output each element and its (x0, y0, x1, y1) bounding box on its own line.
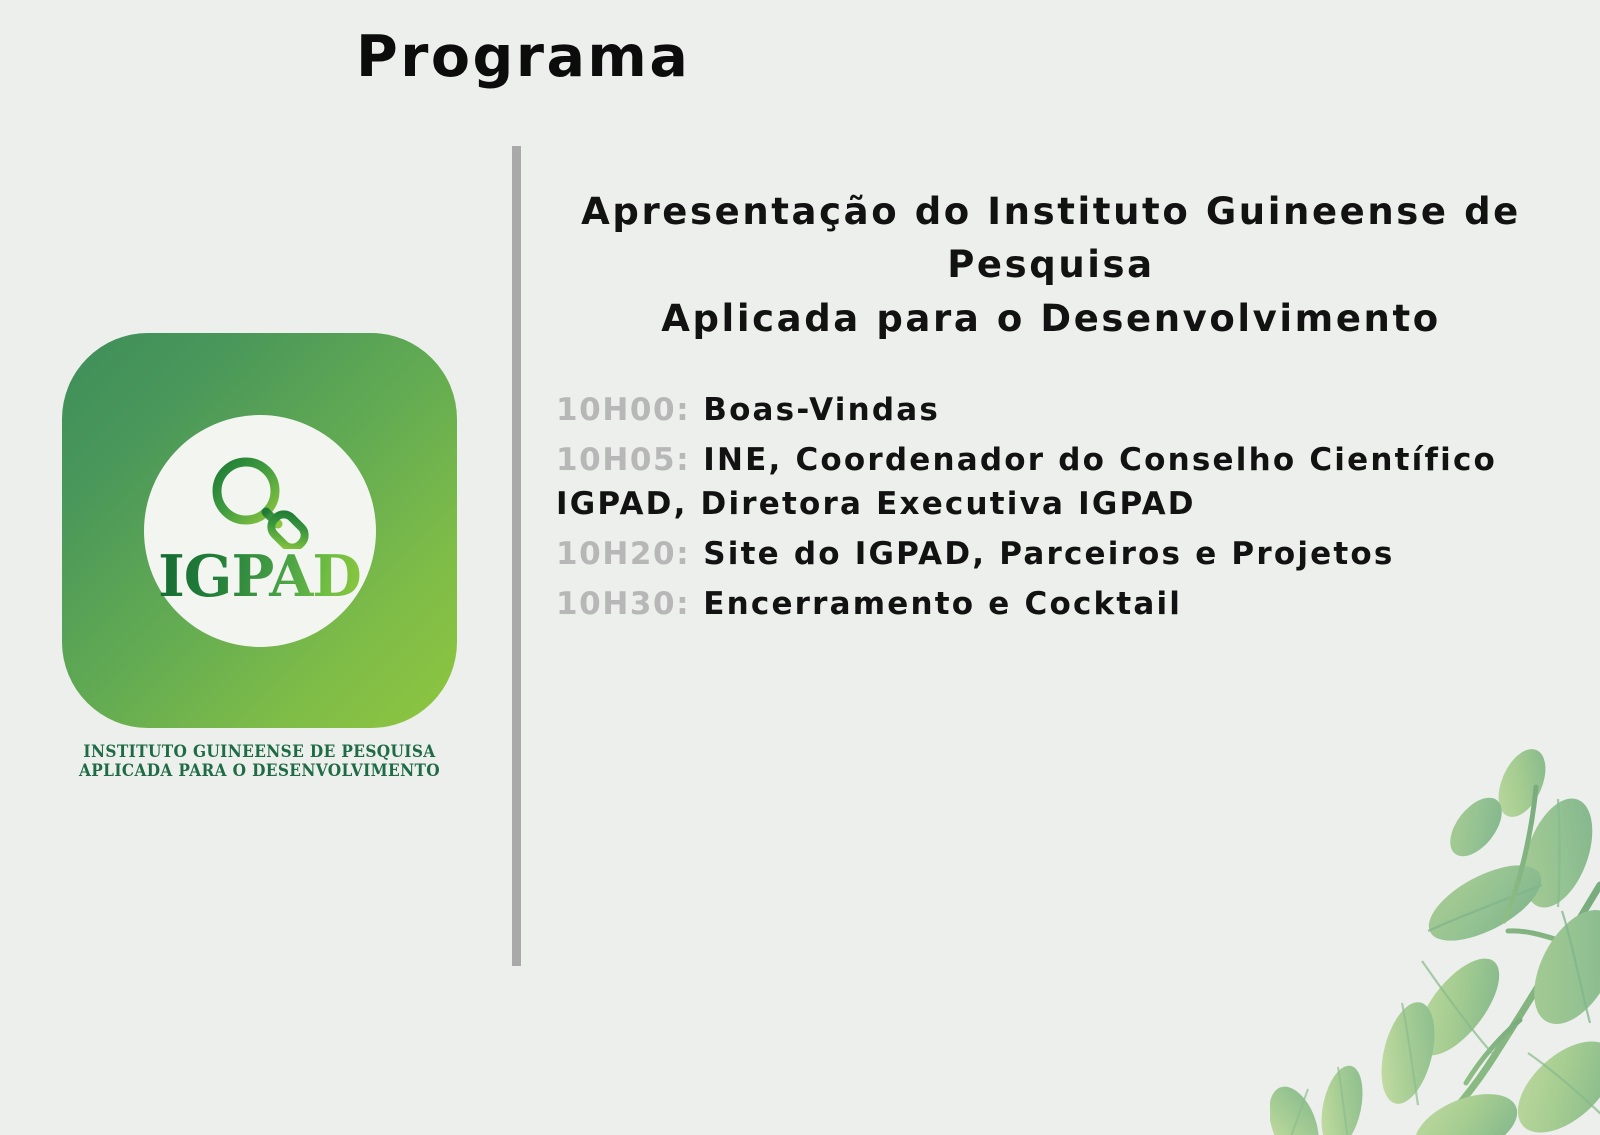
headline-line-2: Pesquisa (556, 239, 1546, 292)
schedule-item-time: 10H30: (556, 586, 690, 622)
leaf (1489, 742, 1555, 824)
leaf-stem-main (1430, 885, 1600, 1135)
igpad-logo-block: IGPAD INSTITUTO GUINEENSE DE PESQUISA AP… (62, 333, 462, 781)
logo-caption-line-1: INSTITUTO GUINEENSE DE PESQUISA (76, 742, 443, 761)
schedule-item-time: 10H20: (556, 536, 690, 572)
schedule-item-time: 10H05: (556, 442, 690, 478)
leaf-vein (1558, 799, 1560, 907)
schedule-item: 10H20: Site do IGPAD, Parceiros e Projet… (556, 532, 1546, 577)
schedule-item-desc: INE, Coordenador do Conselho Científico … (556, 442, 1497, 523)
logo-wordmark: IGPAD (158, 548, 361, 605)
content-column: Apresentação do Instituto Guineense de P… (556, 186, 1546, 632)
leaf-stem-branch (1508, 931, 1558, 940)
leaf (1405, 1081, 1526, 1135)
leaf-vein (1402, 1003, 1418, 1105)
leaf-vein (1422, 961, 1492, 1053)
schedule-item-desc: Site do IGPAD, Parceiros e Projetos (703, 536, 1394, 572)
magnifying-glass-icon (204, 453, 316, 549)
schedule-item: 10H05: INE, Coordenador do Conselho Cien… (556, 438, 1546, 528)
leaf (1501, 1024, 1600, 1135)
logo-tile: IGPAD (62, 333, 457, 728)
schedule-item-desc: Boas-Vindas (703, 392, 940, 428)
schedule-item: 10H00: Boas-Vindas (556, 388, 1546, 433)
leaf (1440, 789, 1512, 866)
leaf-vein (1528, 1053, 1600, 1121)
vertical-divider (512, 146, 521, 966)
page-title: Programa (356, 26, 690, 89)
slide-canvas: Programa (0, 0, 1600, 1135)
leaf (1517, 896, 1600, 1037)
leaf-vein (1338, 1067, 1349, 1135)
schedule-item-desc: Encerramento e Cocktail (703, 586, 1182, 622)
schedule-item-time: 10H00: (556, 392, 690, 428)
leaf (1372, 997, 1444, 1110)
leaf (1418, 850, 1553, 956)
leaf-vein (1282, 1089, 1308, 1135)
headline-line-3: Aplicada para o Desenvolvimento (556, 293, 1546, 346)
leaf (1510, 789, 1600, 917)
schedule-item: 10H30: Encerramento e Cocktail (556, 582, 1546, 627)
headline: Apresentação do Instituto Guineense de P… (556, 186, 1546, 346)
leaf-stem-branch (1466, 1020, 1520, 1083)
logo-caption: INSTITUTO GUINEENSE DE PESQUISA APLICADA… (76, 742, 443, 781)
leaf (1315, 1062, 1370, 1135)
logo-caption-line-2: APLICADA PARA O DESENVOLVIMENTO (76, 761, 443, 780)
logo-circle: IGPAD (144, 415, 376, 647)
leaf-stem-branch (1504, 787, 1536, 921)
headline-line-1: Apresentação do Instituto Guineense de (556, 186, 1546, 239)
leaf-vein (1562, 911, 1590, 1023)
schedule-list: 10H00: Boas-Vindas 10H05: INE, Coordenad… (556, 388, 1546, 628)
leaf (1270, 1080, 1328, 1135)
botanical-leaves-decoration (1270, 735, 1600, 1135)
leaf (1402, 945, 1514, 1068)
leaf-vein (1428, 885, 1542, 931)
